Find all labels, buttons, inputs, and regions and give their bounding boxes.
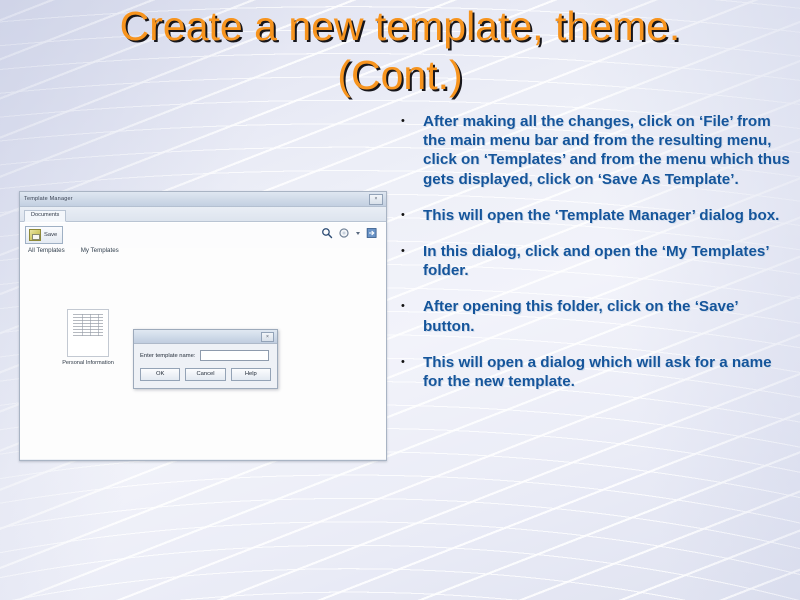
list-item: • After making all the changes, click on… — [401, 112, 793, 189]
breadcrumb-all-templates[interactable]: All Templates — [28, 247, 65, 254]
dialog-titlebar: × — [134, 330, 277, 344]
chevron-down-icon[interactable] — [356, 232, 360, 235]
tab-documents[interactable]: Documents — [24, 210, 66, 222]
template-thumbnail-item[interactable]: Personal Information — [53, 309, 123, 366]
breadcrumb: All Templates My Templates — [20, 247, 387, 254]
bullet-text: This will open the ‘Template Manager’ di… — [423, 206, 793, 225]
bullet-text: In this dialog, click and open the ‘My T… — [423, 242, 793, 280]
toolbar: Save — [20, 223, 386, 248]
bullet-text: After making all the changes, click on ‘… — [423, 112, 793, 189]
bullet-dot-icon: • — [401, 206, 423, 218]
window-body: Save — [20, 222, 386, 459]
dialog-button-row: OK Cancel Help — [134, 361, 277, 381]
tab-strip: Documents — [20, 207, 386, 222]
window-title: Template Manager — [24, 196, 73, 202]
list-item: • This will open the ‘Template Manager’ … — [401, 206, 793, 225]
bullet-dot-icon: • — [401, 112, 423, 124]
help-button[interactable]: Help — [231, 368, 271, 381]
window-titlebar: Template Manager × — [20, 192, 386, 207]
bullet-dot-icon: • — [401, 353, 423, 365]
import-arrow-icon[interactable] — [366, 227, 378, 239]
bullet-dot-icon: • — [401, 297, 423, 309]
list-item: • In this dialog, click and open the ‘My… — [401, 242, 793, 280]
dialog-close-icon[interactable]: × — [261, 332, 274, 342]
ok-button[interactable]: OK — [140, 368, 180, 381]
template-name-input[interactable] — [200, 350, 269, 361]
enter-template-name-dialog: × Enter template name: OK Cancel Help — [133, 329, 278, 389]
bullet-text: After opening this folder, click on the … — [423, 297, 793, 335]
slide-canvas: Create a new template, theme. (Cont.) • … — [0, 0, 800, 600]
page-title: Create a new template, theme. (Cont.) — [0, 2, 800, 100]
document-thumbnail-icon — [67, 309, 109, 357]
settings-circle-icon[interactable] — [338, 227, 350, 239]
dialog-field-row: Enter template name: — [134, 344, 277, 361]
toolbar-icon-group — [321, 227, 378, 239]
search-icon[interactable] — [321, 227, 333, 239]
breadcrumb-my-templates[interactable]: My Templates — [81, 247, 119, 254]
template-name-label: Enter template name: — [140, 353, 195, 359]
close-icon[interactable]: × — [369, 194, 383, 205]
bullet-list: • After making all the changes, click on… — [401, 112, 793, 408]
bullet-dot-icon: • — [401, 242, 423, 254]
list-item: • After opening this folder, click on th… — [401, 297, 793, 335]
save-button[interactable]: Save — [25, 226, 63, 244]
save-button-label: Save — [44, 232, 57, 238]
list-item: • This will open a dialog which will ask… — [401, 353, 793, 391]
cancel-button[interactable]: Cancel — [185, 368, 225, 381]
template-thumbnail-label: Personal Information — [53, 360, 123, 366]
floppy-disk-icon — [29, 229, 41, 241]
bullet-text: This will open a dialog which will ask f… — [423, 353, 793, 391]
template-manager-window-image: Template Manager × Documents Save — [19, 191, 387, 461]
